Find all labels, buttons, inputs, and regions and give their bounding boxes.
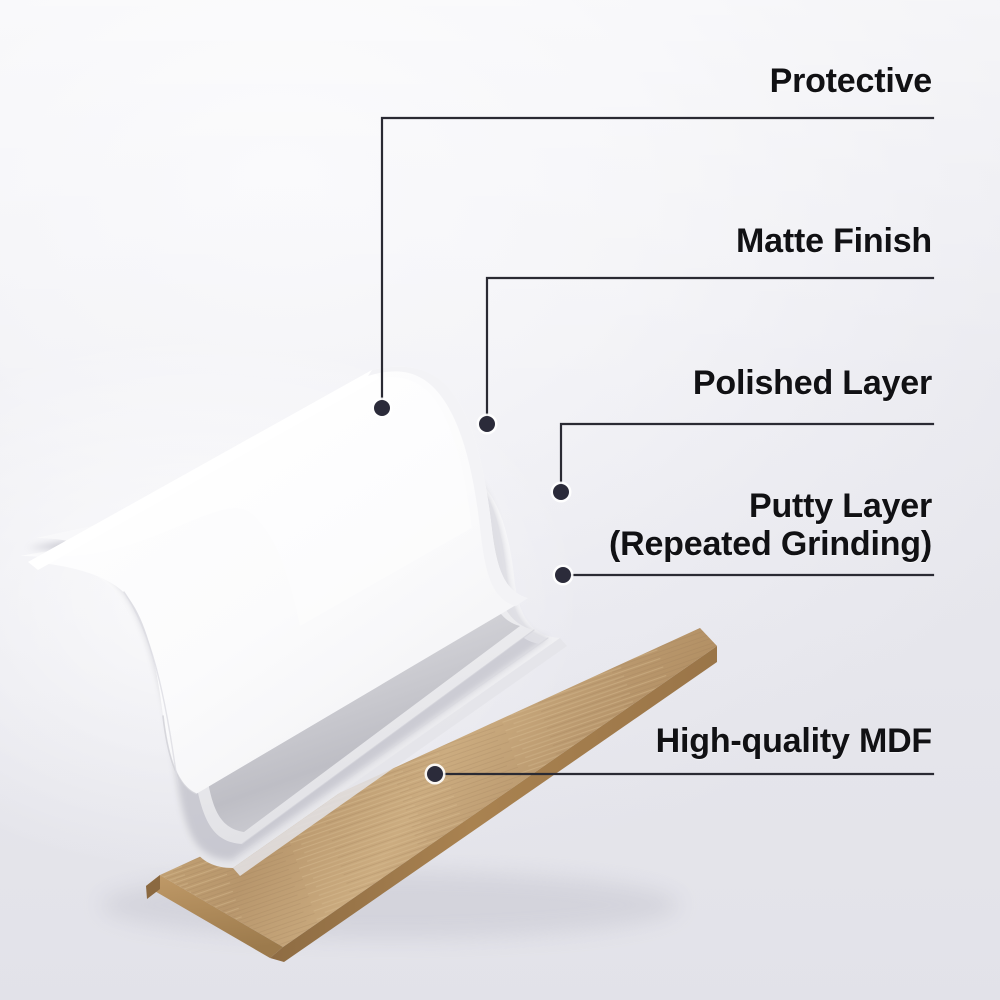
callout-label-putty-layer: Putty Layer (Repeated Grinding) — [609, 487, 932, 563]
leader-polished-layer — [561, 424, 933, 492]
callout-label-matte-finish: Matte Finish — [736, 222, 932, 260]
callout-label-high-quality-mdf: High-quality MDF — [656, 722, 932, 760]
callout-label-protective: Protective — [770, 62, 932, 100]
callout-label-polished-layer: Polished Layer — [693, 364, 932, 402]
diagram-canvas: Protective Matte Finish Polished Layer P… — [0, 0, 1000, 1000]
leader-matte-finish — [487, 278, 933, 424]
